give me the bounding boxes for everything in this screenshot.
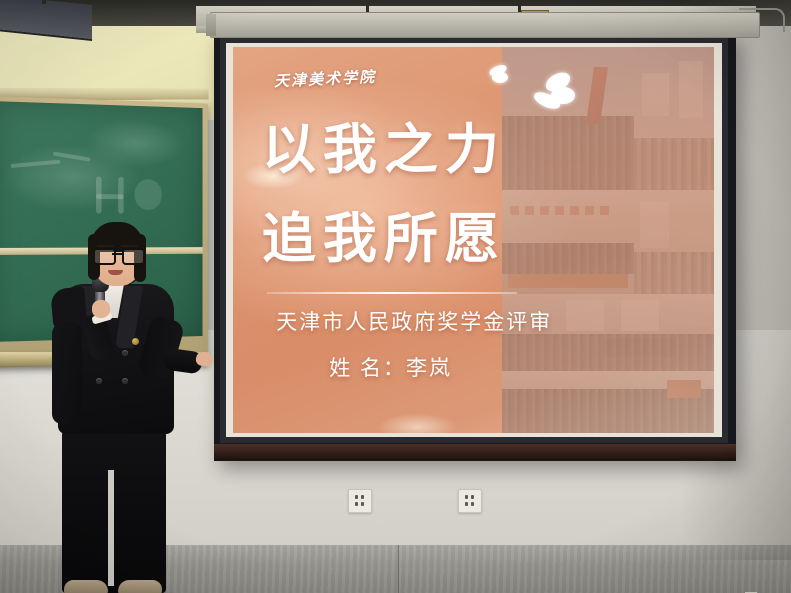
dove-large-icon <box>531 74 583 114</box>
photo-indoor-assembly <box>634 190 714 294</box>
presenter-shoe-left <box>64 580 108 593</box>
photo-flag-ceremony <box>502 47 633 190</box>
chalk-mark <box>135 179 162 210</box>
classroom-photo: 天津美术学院 以我之力 追我所愿 天津市人民政府奖学金评审 姓 名：李岚 <box>0 0 791 593</box>
presenter-arm-left <box>52 322 82 424</box>
ceiling-speaker-stem <box>42 0 46 4</box>
photo-group-portrait <box>502 371 714 433</box>
presentation-slide: 天津美术学院 以我之力 追我所愿 天津市人民政府奖学金评审 姓 名：李岚 <box>233 47 714 433</box>
slide-title-line-1: 以我之力 <box>262 105 506 184</box>
projection-screen: 天津美术学院 以我之力 追我所愿 天津市人民政府奖学金评审 姓 名：李岚 <box>214 33 736 461</box>
presenter-lapel-pin <box>132 338 139 345</box>
slide-divider <box>267 292 517 294</box>
presenter-trousers <box>62 427 166 593</box>
glasses-icon <box>93 248 141 261</box>
chalk-mark <box>96 194 124 199</box>
slide-title-line-2: 追我所愿 <box>262 194 506 273</box>
institution-logo-text: 天津美术学院 <box>273 66 376 91</box>
screen-housing-cap <box>206 14 216 36</box>
photo-award-hall <box>502 190 633 294</box>
screen-glare-bottom <box>377 413 457 433</box>
presenter-button <box>122 378 128 384</box>
dove-small-icon <box>483 66 513 88</box>
photo-campus-buildings <box>634 47 714 190</box>
slide-presenter-name: 姓 名：李岚 <box>329 352 452 382</box>
wall-outlet-right <box>458 489 482 513</box>
floor-seam <box>398 545 399 593</box>
presenter-button <box>122 350 128 356</box>
wall-outlet-left <box>348 489 372 513</box>
presenter-figure <box>36 222 206 593</box>
slide-subtitle: 天津市人民政府奖学金评审 <box>276 306 552 336</box>
presenter-leg-gap <box>108 470 114 586</box>
presenter-brow-left <box>97 245 114 247</box>
presenter-shoe-right <box>118 580 162 593</box>
presenter-brow-right <box>121 245 138 247</box>
presenter-hand-holding-mic <box>92 300 110 318</box>
screen-weight-bar <box>214 444 736 461</box>
presenter-button <box>96 378 102 384</box>
screen-roller-housing <box>210 12 760 38</box>
